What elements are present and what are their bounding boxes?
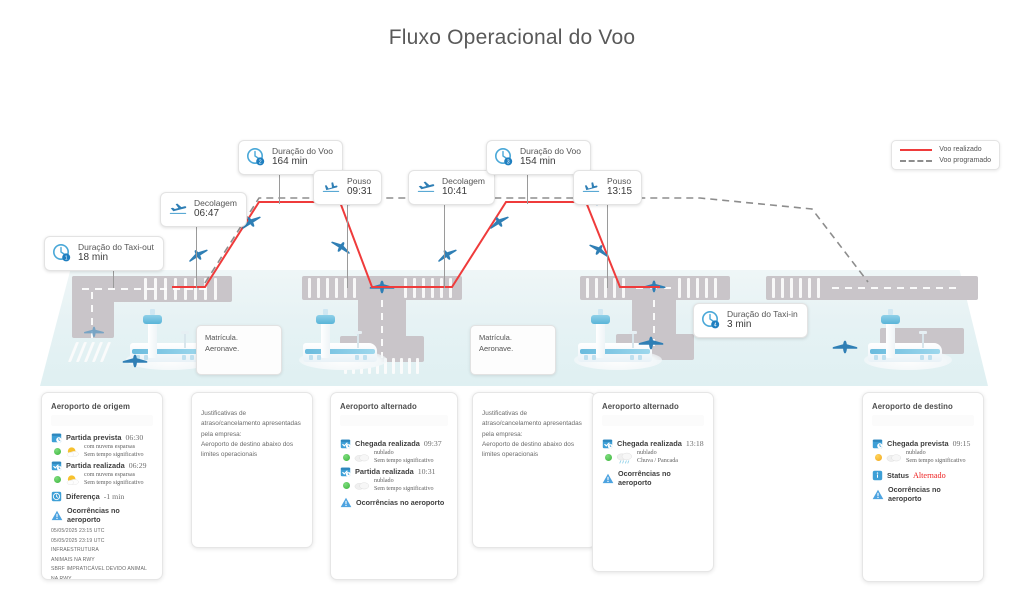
- entry-time: 09:15: [953, 439, 971, 448]
- callout-label: Duração do Voo: [520, 146, 581, 156]
- legend-item-realized: Voo realizado: [900, 146, 991, 153]
- stem-flight-1: [279, 170, 280, 204]
- callout-label: Pouso: [607, 176, 632, 186]
- entry-weather-0: nublado Sem tempo significativo: [872, 450, 974, 465]
- callout-value: 154 min: [520, 156, 581, 168]
- runway-stripes-alt1-right: [402, 278, 458, 298]
- callout-taxi-out[interactable]: 1 Duração do Taxi-out 18 min: [44, 236, 164, 271]
- callout-landing-1[interactable]: Pouso 09:31: [313, 170, 382, 205]
- plane-parked-destination: [830, 340, 860, 354]
- aircraft-box-2[interactable]: Matrícula. Aeronave.: [470, 325, 556, 375]
- entry-partida-realizada: Partida realizada 10:31: [340, 466, 448, 477]
- legend: Voo realizado Voo programado: [891, 140, 1000, 170]
- entry-time: 10:31: [418, 467, 436, 476]
- card-title: Aeroporto alternado: [340, 402, 448, 411]
- card-origin[interactable]: Aeroporto de origem Partida prevista 06:…: [41, 392, 163, 580]
- occurrence-header: Ocorrências no aeroporto: [51, 506, 153, 524]
- landing-icon: [321, 179, 341, 195]
- clock-badge-icon: 3: [494, 147, 514, 167]
- card-title: Aeroporto de origem: [51, 402, 153, 411]
- aircraft-box-1-line1: Matrícula.: [205, 332, 273, 343]
- status-dot-green: [54, 448, 61, 455]
- aircraft-box-2-line1: Matrícula.: [479, 332, 547, 343]
- justification-title: Justificativas de atraso/cancelamento ap…: [201, 409, 303, 440]
- card-slot: [51, 415, 153, 426]
- occurrence-header: Ocorrências no aeroporto: [340, 497, 448, 508]
- justification-text: Aeroporto de destino abaixo dos limites …: [201, 440, 303, 461]
- svg-text:2: 2: [259, 160, 262, 166]
- occurrence-lines: 05/05/2025 23:15 UTC 05/05/2025 23:19 UT…: [51, 527, 153, 580]
- stem-flight-2: [527, 170, 528, 204]
- calendar-clock-icon: [872, 438, 883, 449]
- weather-text: com nuvens esparsas Sem tempo significat…: [84, 444, 144, 459]
- occurrence-label: Ocorrências no aeroporto: [618, 469, 704, 487]
- entry-weather-1: nublado Sem tempo significativo: [340, 478, 448, 493]
- airport-building-alternate-1: [295, 308, 391, 370]
- status-badge: Alternado: [913, 471, 946, 480]
- status-dot-green: [605, 454, 612, 461]
- status-dot-green: [343, 482, 350, 489]
- calendar-check-icon: [340, 466, 351, 477]
- entry-weather-0: com nuvens esparsas Sem tempo significat…: [51, 444, 153, 459]
- legend-dashed-line-icon: [900, 160, 932, 162]
- plane-parked-origin-1: [82, 326, 106, 338]
- flight-operational-flow-page: Fluxo Operacional do Voo: [0, 0, 1024, 608]
- occurrence-line: ANIMAIS NA RWY: [51, 556, 153, 565]
- weather-text: nublado Sem tempo significativo: [374, 450, 434, 465]
- calendar-check-icon: [51, 460, 62, 471]
- aircraft-box-2-line2: Aeronave.: [479, 343, 547, 354]
- rain-cloud-icon: [616, 451, 633, 464]
- sun-cloud-icon: [65, 474, 80, 486]
- plane-parked-origin-2: [120, 354, 150, 368]
- card-alternate-1[interactable]: Aeroporto alternado Chegada realizada 09…: [330, 392, 458, 580]
- entry-weather-1: com nuvens esparsas Sem tempo significat…: [51, 472, 153, 487]
- callout-label: Duração do Voo: [272, 146, 333, 156]
- difference-label: Diferença: [66, 492, 100, 501]
- plane-taxiing-alternate-2: [640, 280, 668, 293]
- callout-flight-2[interactable]: 3 Duração do Voo 154 min: [486, 140, 591, 175]
- card-title: Aeroporto de destino: [872, 402, 974, 411]
- callout-value: 10:41: [442, 186, 485, 198]
- card-destination[interactable]: Aeroporto de destino Chegada prevista 09…: [862, 392, 984, 582]
- legend-item-scheduled: Voo programado: [900, 157, 991, 164]
- entry-label: Partida realizada: [66, 461, 125, 470]
- occurrence-line: SBRF IMPRATICÁVEL DEVIDO ANIMAL NA RWY: [51, 565, 153, 580]
- entry-partida-prevista: Partida prevista 06:30: [51, 432, 153, 443]
- info-cards: Aeroporto de origem Partida prevista 06:…: [0, 392, 1024, 587]
- cloud-icon: [886, 452, 902, 463]
- entry-time: 09:37: [424, 439, 442, 448]
- threshold-stripes-origin: [64, 342, 116, 362]
- entry-label: Chegada prevista: [887, 439, 949, 448]
- page-title: Fluxo Operacional do Voo: [0, 26, 1024, 50]
- callout-label: Decolagem: [194, 198, 237, 208]
- card-slot: [602, 415, 704, 426]
- legend-label: Voo programado: [939, 157, 991, 164]
- occurrence-line: 05/05/2025 23:19 UTC: [51, 537, 153, 546]
- callout-landing-2[interactable]: Pouso 13:15: [573, 170, 642, 205]
- callout-label: Duração do Taxi-out: [78, 242, 154, 252]
- entry-weather-0: nublado Sem tempo significativo: [340, 450, 448, 465]
- runway-stripes-alt2-left: [584, 278, 632, 298]
- occurrence-label: Ocorrências no aeroporto: [67, 506, 153, 524]
- justification-text: Aeroporto de destino abaixo dos limites …: [482, 440, 586, 461]
- weather-text: nublado Sem tempo significativo: [374, 478, 434, 493]
- runway-stripes-alt2-right: [676, 278, 726, 298]
- occurrence-line: 05/05/2025 23:15 UTC: [51, 527, 153, 536]
- takeoff-icon: [168, 201, 188, 217]
- entry-label: Chegada realizada: [617, 439, 682, 448]
- stem-takeoff-2: [444, 196, 445, 288]
- landing-icon: [581, 179, 601, 195]
- plane-airborne-descend-1: [326, 234, 355, 260]
- plane-parked-alternate-2: [636, 336, 666, 350]
- occurrence-label: Ocorrências no aeroporto: [356, 498, 444, 507]
- callout-value: 13:15: [607, 186, 632, 198]
- stem-landing-1: [347, 200, 348, 288]
- status-dot-green: [343, 454, 350, 461]
- stem-taxi-out: [113, 268, 114, 288]
- callout-taxi-in[interactable]: 4 Duração do Taxi-in 3 min: [693, 303, 808, 338]
- taxi-centerline-origin: [82, 288, 222, 290]
- entry-time: 06:29: [129, 461, 147, 470]
- svg-text:1: 1: [65, 256, 68, 262]
- occurrence-header: Ocorrências no aeroporto: [602, 469, 704, 487]
- card-slot: [340, 415, 448, 426]
- warning-icon: [872, 489, 884, 500]
- occurrence-header: Ocorrências no aeroporto: [872, 485, 974, 503]
- calendar-check-icon: [602, 438, 613, 449]
- status-dot-amber: [875, 454, 882, 461]
- warning-icon: [340, 497, 352, 508]
- legend-label: Voo realizado: [939, 146, 981, 153]
- status-label: Status: [887, 471, 909, 480]
- plane-taxiing-alternate-1: [367, 280, 397, 294]
- occurrence-label: Ocorrências no aeroporto: [888, 485, 974, 503]
- callout-value: 164 min: [272, 156, 333, 168]
- callout-label: Pouso: [347, 176, 372, 186]
- callout-value: 18 min: [78, 252, 154, 264]
- info-icon: [872, 470, 883, 481]
- entry-diferenca: Diferença -1 min: [51, 491, 153, 502]
- runway-stripes-alt1-left: [306, 278, 362, 298]
- warning-icon: [51, 510, 63, 521]
- svg-text:3: 3: [507, 160, 510, 166]
- cloud-icon: [354, 480, 370, 491]
- legend-solid-line-icon: [900, 149, 932, 151]
- takeoff-icon: [416, 179, 436, 195]
- svg-text:4: 4: [714, 323, 717, 329]
- status-dot-green: [54, 476, 61, 483]
- calendar-check-icon: [340, 438, 351, 449]
- clock-badge-icon: 1: [52, 243, 72, 263]
- entry-chegada-realizada: Chegada realizada 09:37: [340, 438, 448, 449]
- clock-badge-icon: 4: [701, 310, 721, 330]
- clock-badge-icon: 2: [246, 147, 266, 167]
- airport-building-destination: [860, 308, 956, 370]
- runway-stripes-destination: [770, 278, 826, 298]
- aircraft-box-1[interactable]: Matrícula. Aeronave.: [196, 325, 282, 375]
- entry-time: 13:18: [686, 439, 704, 448]
- plane-airborne-climb-2b: [484, 209, 513, 235]
- weather-text: com nuvens esparsas Sem tempo significat…: [84, 472, 144, 487]
- callout-label: Decolagem: [442, 176, 485, 186]
- runway-centerline-destination: [832, 287, 972, 289]
- sun-cloud-icon: [65, 446, 80, 458]
- difference-value: -1 min: [104, 492, 125, 501]
- card-alternate-2[interactable]: Aeroporto alternado Chegada realizada 13…: [592, 392, 714, 572]
- clock-square-icon: [51, 491, 62, 502]
- card-slot: [872, 415, 974, 426]
- stem-takeoff-1: [196, 224, 197, 288]
- entry-weather-0: nublado Chuva / Pancada: [602, 450, 704, 465]
- entry-label: Chegada realizada: [355, 439, 420, 448]
- entry-label: Partida realizada: [355, 467, 414, 476]
- card-title: Aeroporto alternado: [602, 402, 704, 411]
- callout-takeoff-2[interactable]: Decolagem 10:41: [408, 170, 495, 205]
- entry-chegada-prevista: Chegada prevista 09:15: [872, 438, 974, 449]
- weather-text: nublado Sem tempo significativo: [906, 450, 966, 465]
- entry-chegada-realizada: Chegada realizada 13:18: [602, 438, 704, 449]
- callout-value: 09:31: [347, 186, 372, 198]
- occurrence-line: INFRAESTRUTURA: [51, 546, 153, 555]
- aircraft-box-1-line2: Aeronave.: [205, 343, 273, 354]
- justification-title: Justificativas de atraso/cancelamento ap…: [482, 409, 586, 440]
- stem-landing-2: [607, 198, 608, 288]
- callout-value: 3 min: [727, 319, 798, 331]
- entry-time: 06:30: [125, 433, 143, 442]
- card-justification-2[interactable]: Justificativas de atraso/cancelamento ap…: [472, 392, 596, 548]
- entry-label: Partida prevista: [66, 433, 121, 442]
- entry-partida-realizada: Partida realizada 06:29: [51, 460, 153, 471]
- weather-text: nublado Chuva / Pancada: [637, 450, 678, 465]
- calendar-clock-icon: [51, 432, 62, 443]
- warning-icon: [602, 473, 614, 484]
- card-justification-1[interactable]: Justificativas de atraso/cancelamento ap…: [191, 392, 313, 548]
- cloud-icon: [354, 452, 370, 463]
- callout-label: Duração do Taxi-in: [727, 309, 798, 319]
- status-row: Status Alternado: [872, 470, 974, 481]
- callout-value: 06:47: [194, 208, 237, 220]
- callout-takeoff-1[interactable]: Decolagem 06:47: [160, 192, 247, 227]
